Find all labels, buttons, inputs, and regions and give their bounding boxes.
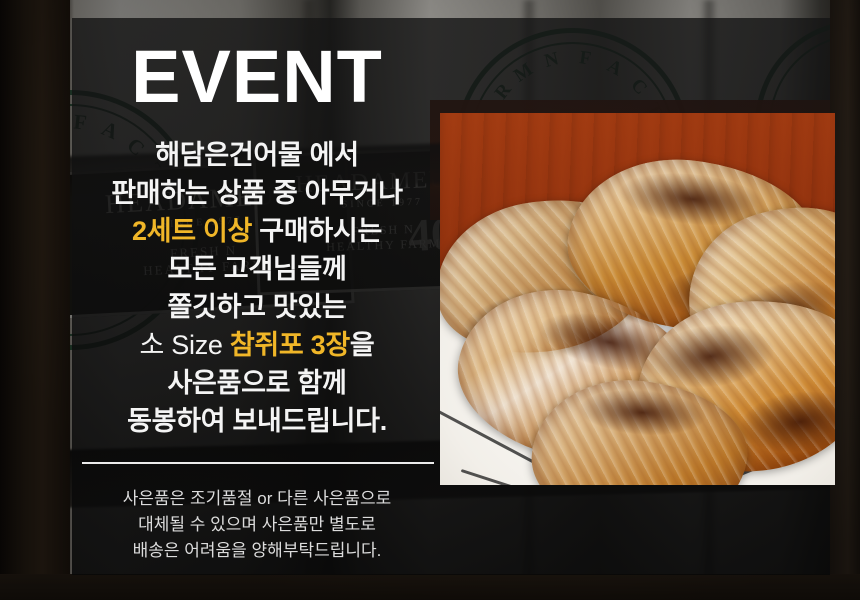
copy-line-6-prefix: 소 Size [140,330,230,360]
copy-highlight-gift: 참쥐포 3장 [230,330,350,360]
copy-line-8: 동봉하여 보내드립니다. [72,402,442,440]
text-column: EVENT 해담은건어물 에서 판매하는 상품 중 아무거나 2세트 이상 구매… [72,18,442,575]
fine-print-line-1: 사은품은 조기품절 or 다른 사은품으로 [72,486,442,512]
divider [82,462,434,464]
fine-print-block: 사은품은 조기품절 or 다른 사은품으로 대체될 수 있으며 사은품만 별도로… [72,486,442,564]
fine-print-line-2: 대체될 수 있으며 사은품만 별도로 [72,512,442,538]
promo-copy-block: 해담은건어물 에서 판매하는 상품 중 아무거나 2세트 이상 구매하시는 모든… [72,136,442,440]
copy-line-3: 2세트 이상 구매하시는 [72,212,442,250]
event-banner: R M N F A C T O R M N F A C T [0,0,860,600]
copy-line-3-rest: 구매하시는 [252,216,382,246]
copy-highlight-sets: 2세트 이상 [132,216,252,246]
copy-line-6: 소 Size 참쥐포 3장을 [72,326,442,364]
product-photo [440,113,835,485]
copy-line-5: 쫄깃하고 맛있는 [72,288,442,326]
copy-line-7: 사은품으로 함께 [72,364,442,402]
copy-line-2: 판매하는 상품 중 아무거나 [72,174,442,212]
copy-line-6-suffix: 을 [350,330,375,360]
fine-print-line-3: 배송은 어려움을 양해부탁드립니다. [72,538,442,564]
copy-line-1: 해담은건어물 에서 [72,136,442,174]
copy-line-4: 모든 고객님들께 [72,250,442,288]
page-title: EVENT [72,40,442,114]
